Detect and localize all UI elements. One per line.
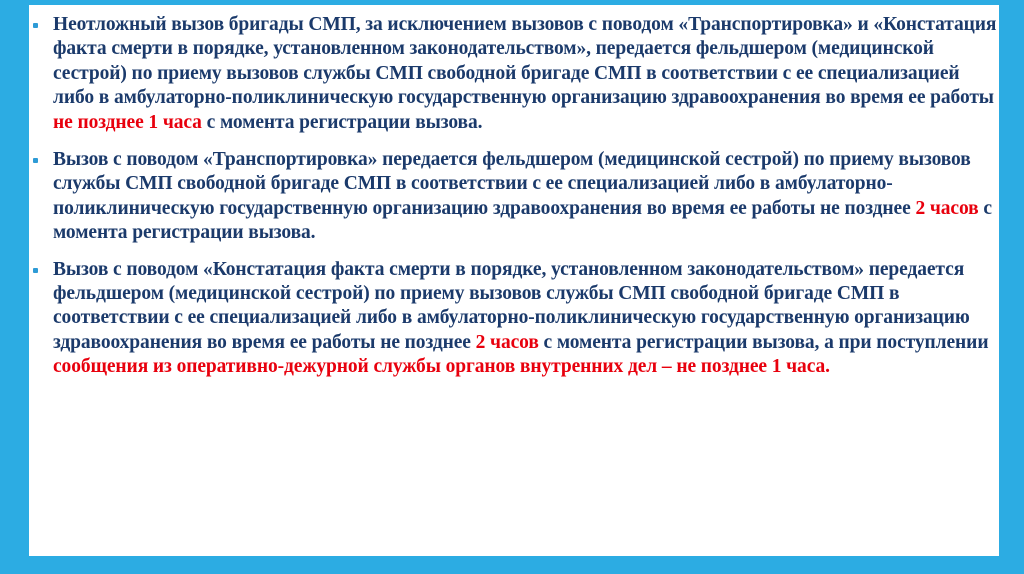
text-run-highlight: не позднее 1 часа bbox=[53, 112, 202, 133]
list-item: Неотложный вызов бригады СМП, за исключе… bbox=[29, 13, 999, 135]
bullet-dot-icon bbox=[33, 23, 38, 28]
paragraph-text-3: Вызов с поводом «Констатация факта смерт… bbox=[53, 259, 988, 378]
slide-content-panel: Неотложный вызов бригады СМП, за исключе… bbox=[29, 5, 999, 556]
paragraph-text-2: Вызов с поводом «Транспортировка» переда… bbox=[53, 149, 992, 243]
text-run-normal: Неотложный вызов бригады СМП, за исключе… bbox=[53, 14, 996, 108]
slide-frame: Неотложный вызов бригады СМП, за исключе… bbox=[0, 0, 1024, 574]
list-item: Вызов с поводом «Констатация факта смерт… bbox=[29, 258, 999, 380]
bullet-dot-icon bbox=[33, 268, 38, 273]
text-run-highlight: 2 часов bbox=[476, 332, 539, 353]
bullet-dot-icon bbox=[33, 158, 38, 163]
text-run-highlight: сообщения из оперативно-дежурной службы … bbox=[53, 356, 830, 377]
text-run-normal: Вызов с поводом «Транспортировка» переда… bbox=[53, 149, 971, 219]
text-run-normal: с момента регистрации вызова, а при пост… bbox=[539, 332, 989, 353]
paragraph-text-1: Неотложный вызов бригады СМП, за исключе… bbox=[53, 14, 996, 133]
bullet-list: Неотложный вызов бригады СМП, за исключе… bbox=[29, 13, 999, 380]
text-run-highlight: 2 часов bbox=[915, 198, 978, 219]
list-item: Вызов с поводом «Транспортировка» переда… bbox=[29, 148, 999, 246]
text-run-normal: с момента регистрации вызова. bbox=[202, 112, 483, 133]
